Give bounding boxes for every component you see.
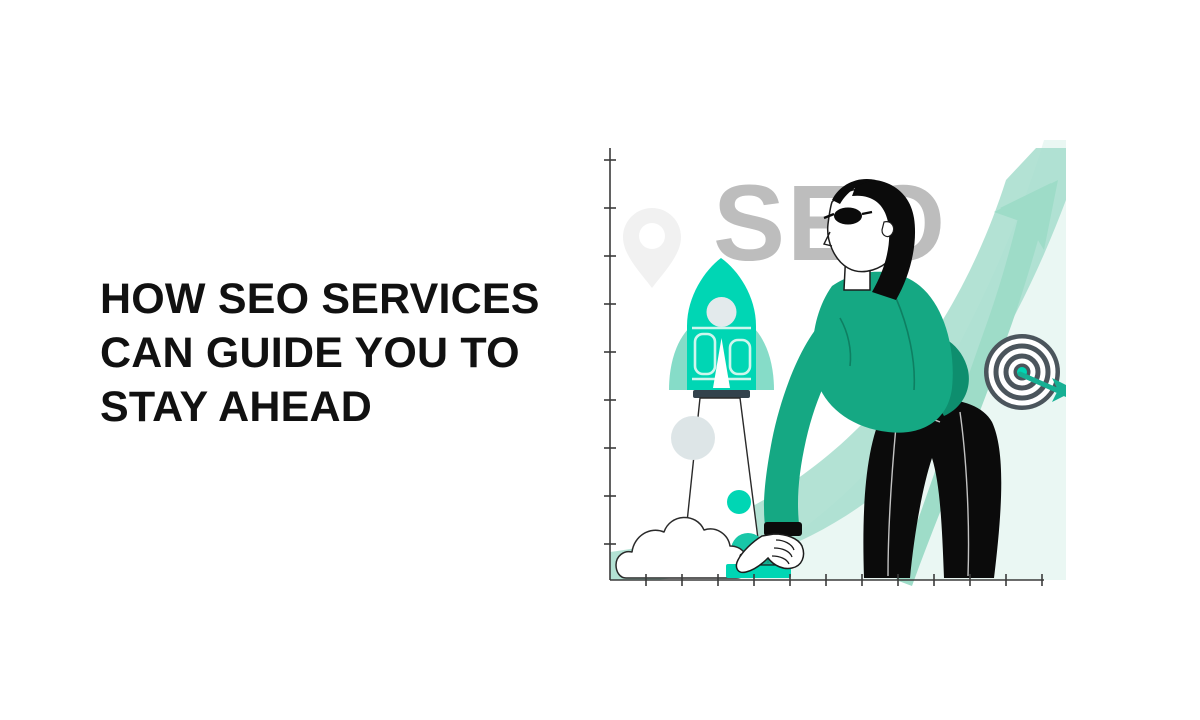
seo-growth-illustration: SEO <box>596 140 1066 600</box>
person-ear <box>882 222 894 237</box>
location-pin-icon <box>623 208 681 288</box>
headline-block: HOW SEO SERVICES CAN GUIDE YOU TO STAY A… <box>100 272 600 434</box>
person-cuff <box>764 522 802 536</box>
page-title: HOW SEO SERVICES CAN GUIDE YOU TO STAY A… <box>100 272 600 434</box>
dot-teal-small <box>727 490 751 514</box>
seo-banner: HOW SEO SERVICES CAN GUIDE YOU TO STAY A… <box>0 0 1200 720</box>
dot-gray <box>671 416 715 460</box>
